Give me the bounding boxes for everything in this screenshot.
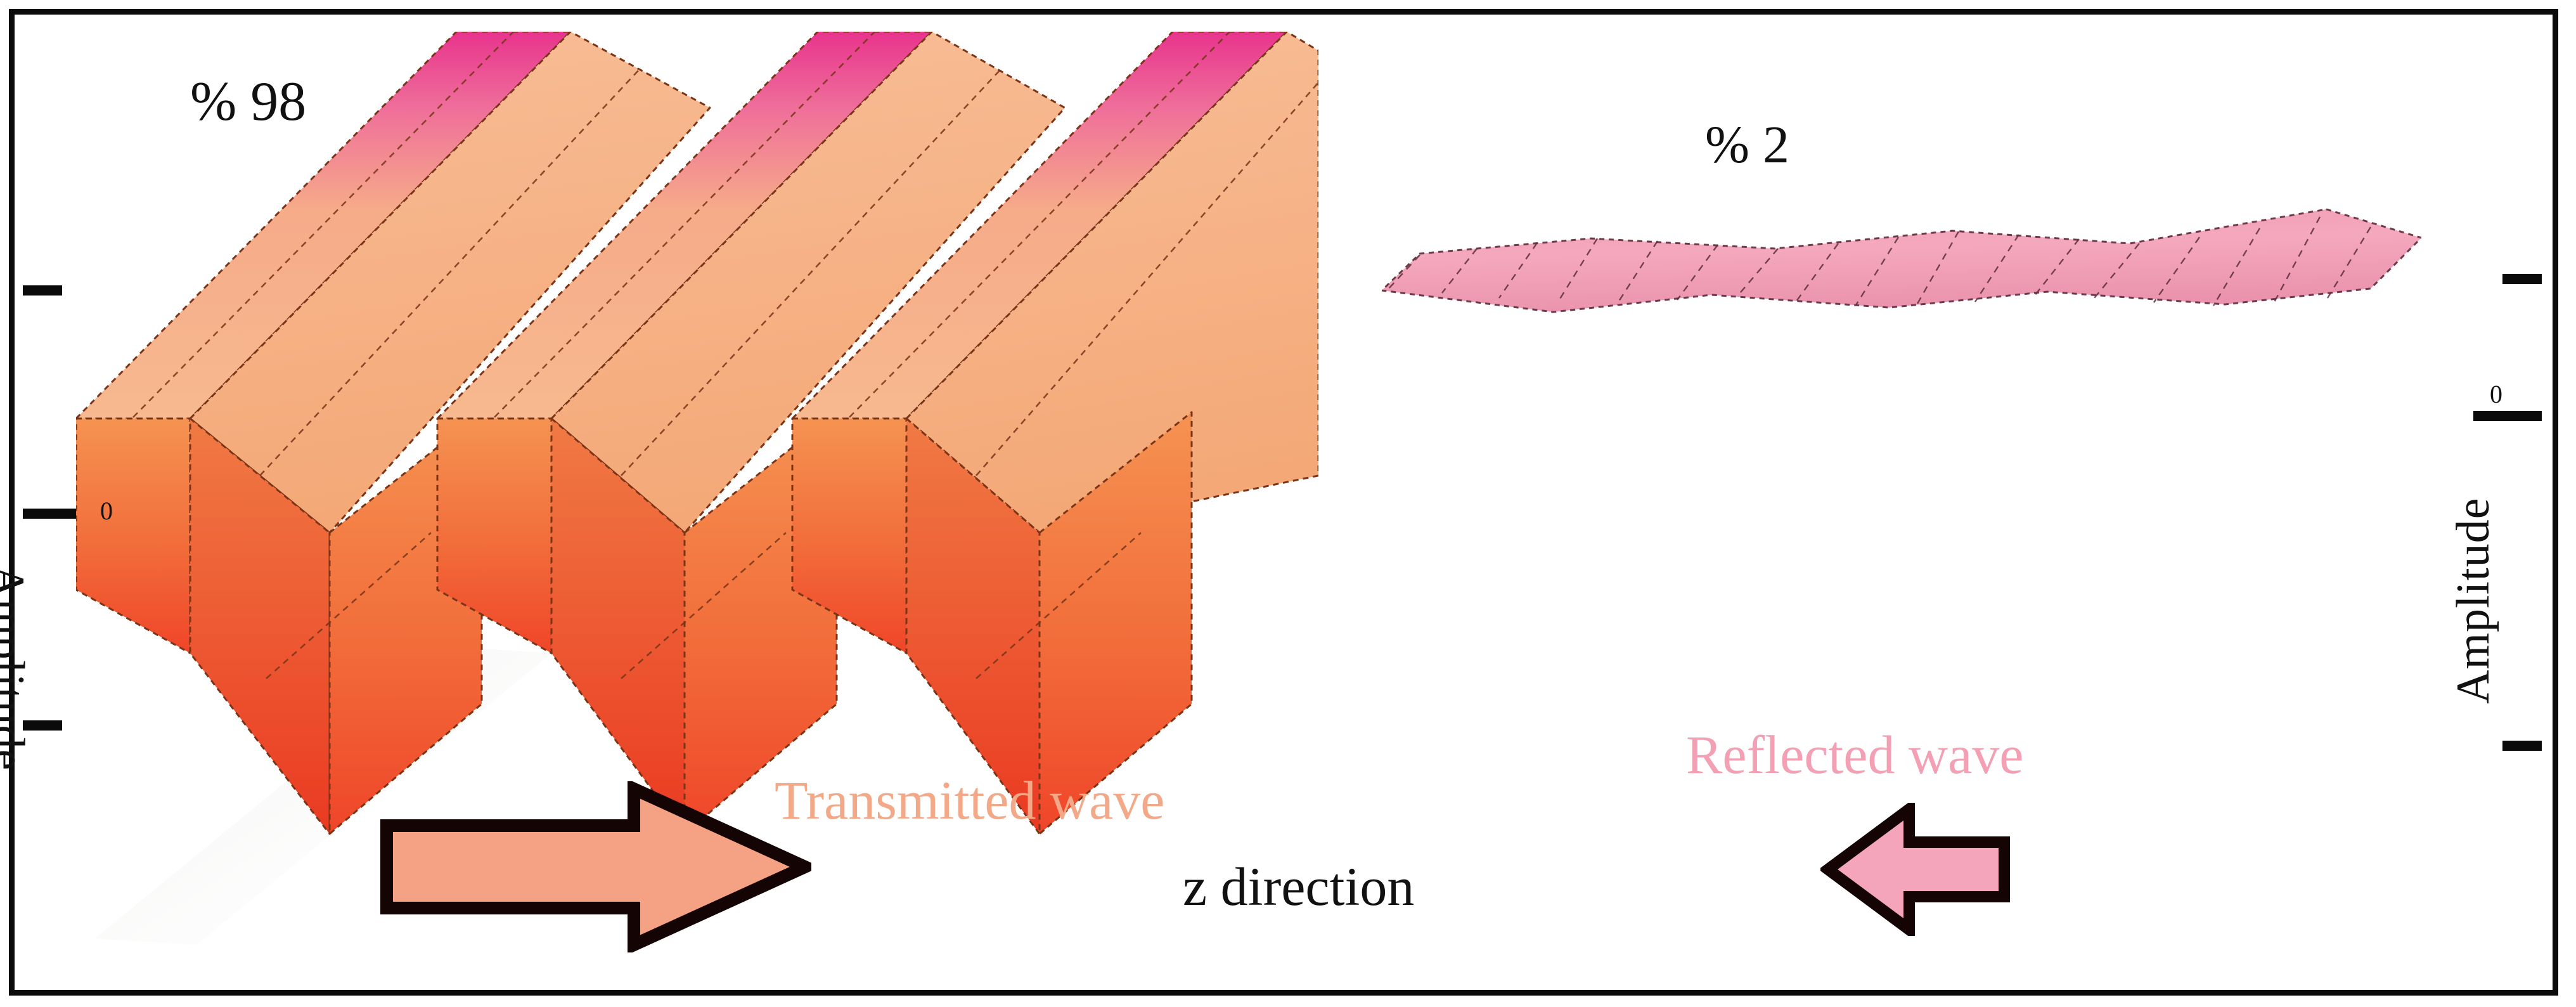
axis-zero-label-right: 0: [2490, 379, 2502, 409]
axis-tick-right-zero: [2473, 411, 2542, 421]
arrow-right-icon: [380, 781, 811, 952]
figure-canvas: % 98 % 2 0 0 Amplitude Amplitude Transmi…: [0, 0, 2576, 1007]
axis-zero-label-left: 0: [100, 496, 113, 526]
z-direction-label: z direction: [1183, 855, 1414, 918]
axis-tick-left-top: [23, 285, 62, 296]
transmitted-percent-label: % 98: [190, 70, 306, 134]
axis-tick-right-top: [2502, 274, 2542, 284]
reflected-wave-label: Reflected wave: [1686, 723, 2023, 786]
arrow-left-icon: [1820, 803, 2011, 936]
axis-label-amplitude-right: Amplitude: [2447, 497, 2501, 704]
reflected-wave-surface: [1382, 178, 2421, 393]
reflected-percent-label: % 2: [1705, 114, 1789, 176]
axis-tick-right-bottom: [2502, 741, 2542, 751]
transmitted-wave-surface: [76, 32, 1318, 881]
transmitted-wave-label: Transmitted wave: [775, 769, 1164, 832]
axis-label-amplitude-left: Amplitude: [0, 564, 34, 771]
